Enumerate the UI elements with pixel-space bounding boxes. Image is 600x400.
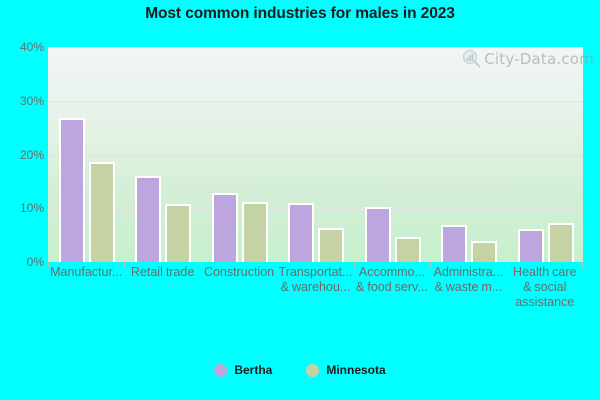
bar-group: [201, 47, 277, 262]
x-axis: Manufactur...Retail tradeConstructionTra…: [48, 262, 583, 324]
legend-label: Bertha: [234, 363, 272, 377]
x-axis-tick-label: Construction: [201, 265, 277, 280]
legend-label: Minnesota: [326, 363, 385, 377]
bar[interactable]: [548, 223, 574, 262]
x-axis-tick-label: Administra...& waste m...: [430, 265, 506, 295]
y-axis-tick-label: 10%: [2, 201, 44, 215]
bar[interactable]: [471, 241, 497, 262]
bar[interactable]: [165, 204, 191, 262]
y-axis-tick-label: 30%: [2, 94, 44, 108]
x-axis-tick-label: Retail trade: [124, 265, 200, 280]
bar[interactable]: [212, 193, 238, 262]
bar[interactable]: [135, 176, 161, 262]
bar-group: [507, 47, 583, 262]
bar-group: [354, 47, 430, 262]
y-axis: 0%10%20%30%40%: [0, 47, 44, 262]
bar[interactable]: [518, 229, 544, 262]
bar[interactable]: [395, 237, 421, 262]
y-axis-tick-label: 0%: [2, 255, 44, 269]
y-axis-tick-label: 40%: [2, 40, 44, 54]
bar[interactable]: [89, 162, 115, 262]
bar[interactable]: [59, 118, 85, 262]
x-axis-tick-label: Accommo...& food serv...: [354, 265, 430, 295]
x-axis-tick-label: Transportat...& warehou...: [277, 265, 353, 295]
bar[interactable]: [242, 202, 268, 262]
bar-chart: Most common industries for males in 2023…: [0, 0, 600, 400]
bar[interactable]: [365, 207, 391, 262]
bar-group: [124, 47, 200, 262]
bar[interactable]: [441, 225, 467, 262]
legend-item[interactable]: Bertha: [214, 363, 272, 377]
legend-swatch: [214, 364, 227, 377]
x-axis-tick-label: Manufactur...: [48, 265, 124, 280]
chart-legend: BerthaMinnesota: [0, 363, 600, 377]
bar[interactable]: [318, 228, 344, 262]
legend-swatch: [306, 364, 319, 377]
bar-group: [277, 47, 353, 262]
legend-item[interactable]: Minnesota: [306, 363, 385, 377]
chart-title: Most common industries for males in 2023: [0, 5, 600, 23]
y-axis-tick-label: 20%: [2, 148, 44, 162]
bar-group: [430, 47, 506, 262]
bar[interactable]: [288, 203, 314, 263]
x-axis-tick: [48, 262, 49, 268]
bar-group: [48, 47, 124, 262]
x-axis-tick-label: Health care& socialassistance: [507, 265, 583, 310]
x-axis-tick: [582, 262, 583, 268]
plot-area: [48, 47, 583, 262]
